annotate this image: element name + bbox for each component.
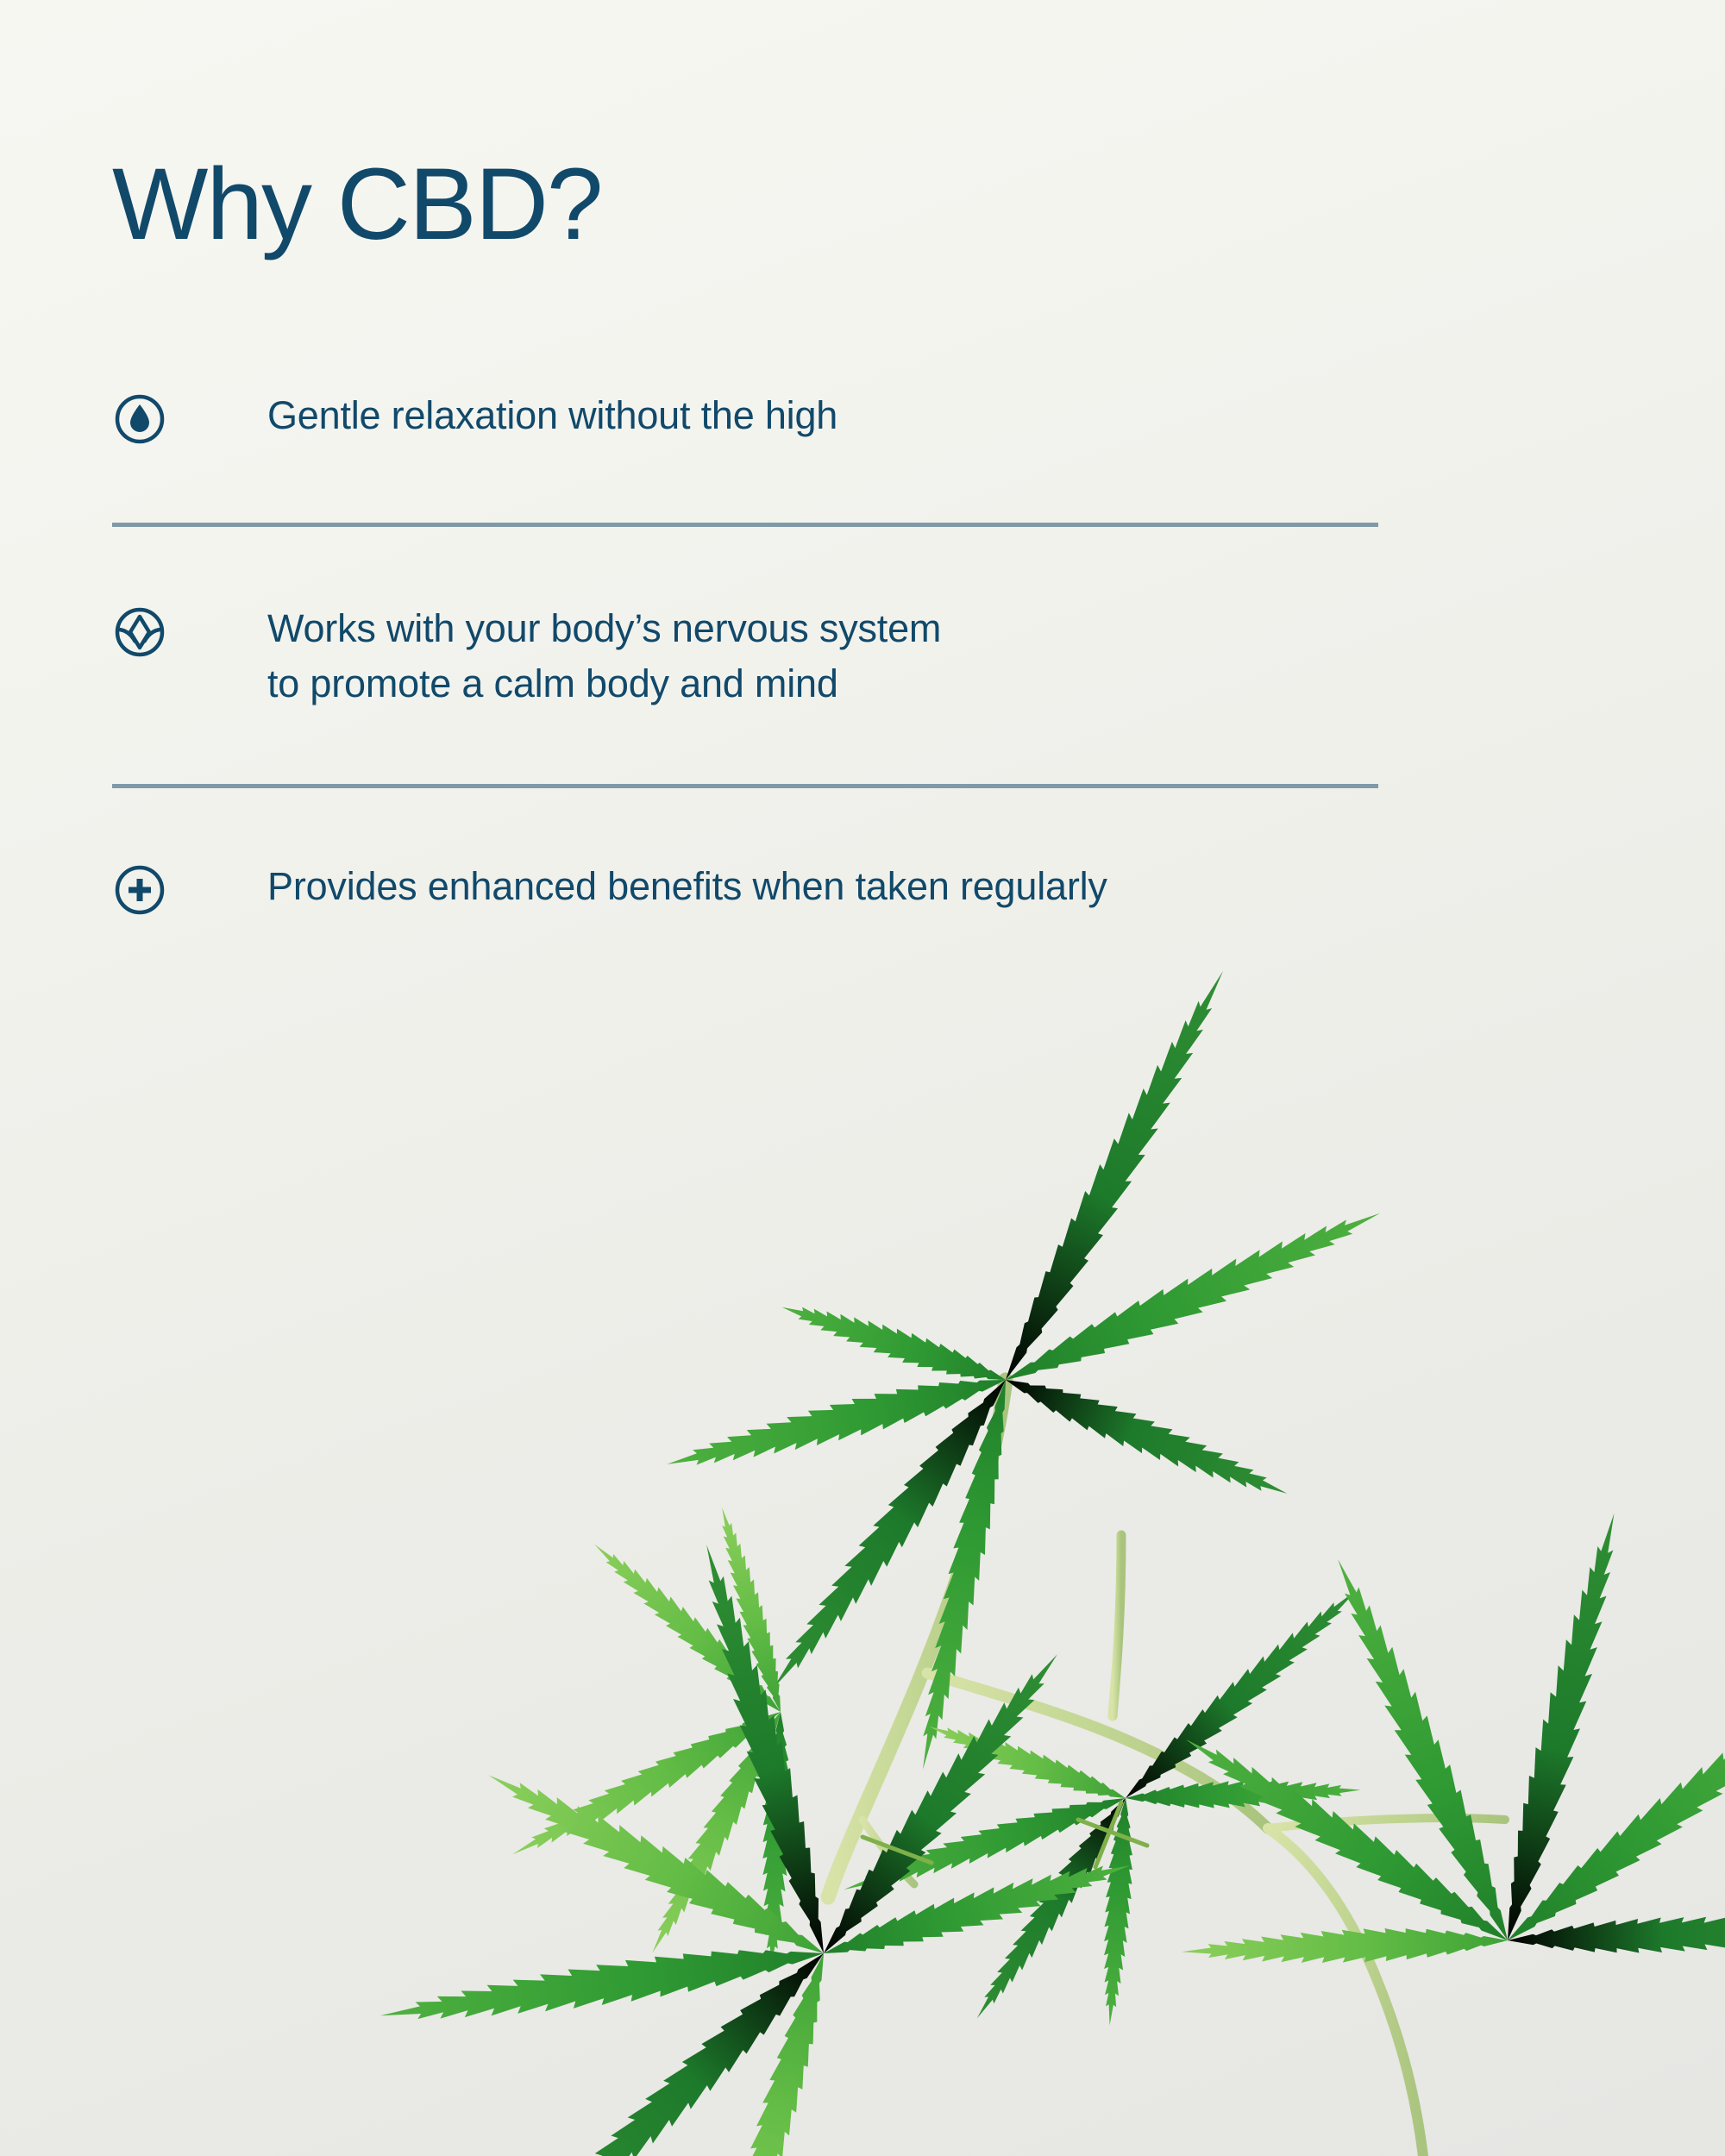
benefit-item-3: Provides enhanced benefits when taken re… [112,859,1380,918]
benefit-label-1: Gentle relaxation without the high [267,388,1380,443]
plant-stems [828,1380,1505,2156]
cbd-benefits-page: Why CBD? Gentle relaxation without the h… [0,0,1725,2156]
benefits-list: Gentle relaxation without the high Works… [112,388,1380,918]
benefit-item-1: Gentle relaxation without the high [112,388,1380,447]
spacer [112,788,1380,859]
leaf-cluster-top [662,962,1388,1773]
page-title: Why CBD? [112,154,602,255]
lotus-in-circle-icon [112,605,167,660]
leaf-cluster-bottom-right [1176,1508,1725,1968]
spacer [112,527,1380,601]
cannabis-plant-photo [0,931,1725,2156]
droplet-in-circle-icon [112,392,167,447]
plus-in-circle-icon [112,862,167,918]
spacer [112,447,1380,523]
plant-sprigs [862,1802,1147,1867]
leaf-cluster-left-mid [505,1504,793,1970]
benefit-item-2: Works with your body’s nervous system to… [112,601,1380,711]
spacer [112,711,1380,784]
benefit-label-2: Works with your body’s nervous system to… [267,601,1380,711]
leaf-cluster-right-mid [839,1579,1366,2027]
benefit-label-3: Provides enhanced benefits when taken re… [267,859,1380,914]
leaf-cluster-bottom-left [377,1539,1134,2156]
